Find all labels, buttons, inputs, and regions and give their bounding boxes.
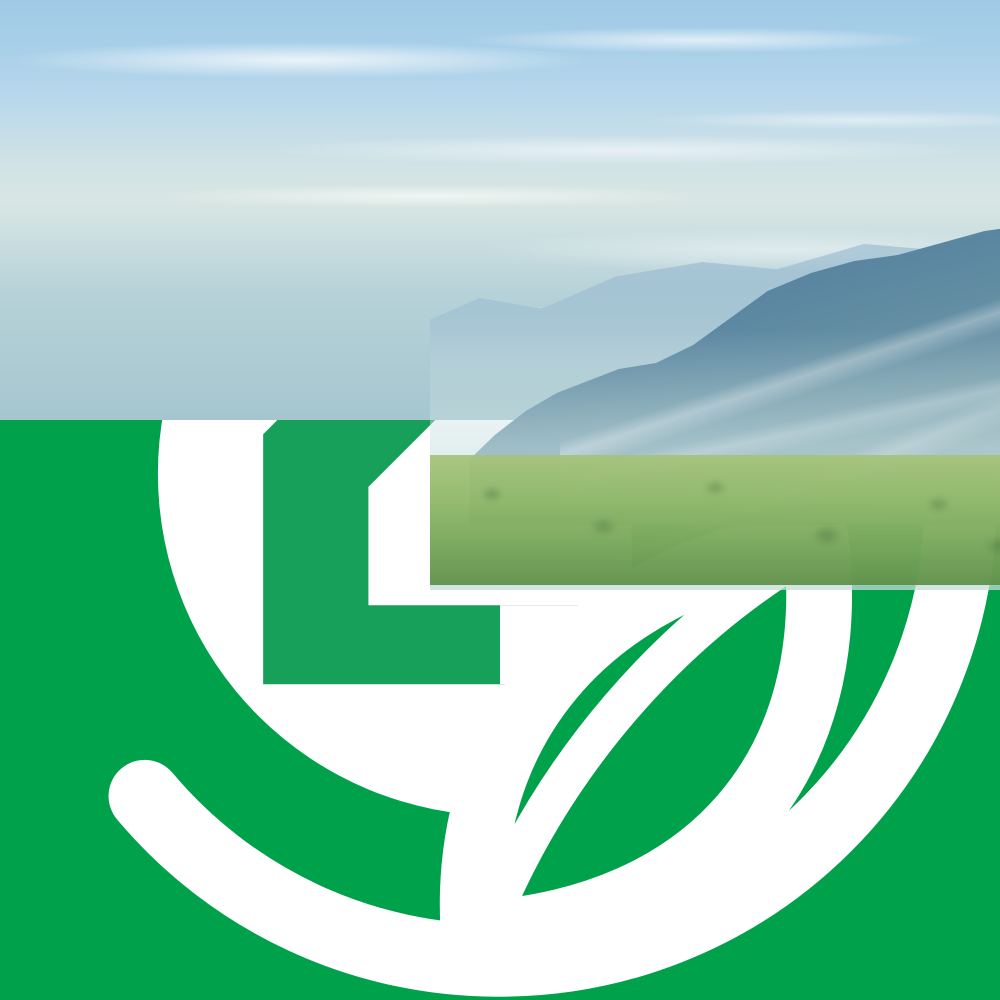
poster-canvas: Из ответственных источников С заботой о … [0, 0, 1000, 1000]
landscape-photo [0, 0, 1000, 1000]
near-forest-canopy-layer [430, 545, 1000, 1000]
